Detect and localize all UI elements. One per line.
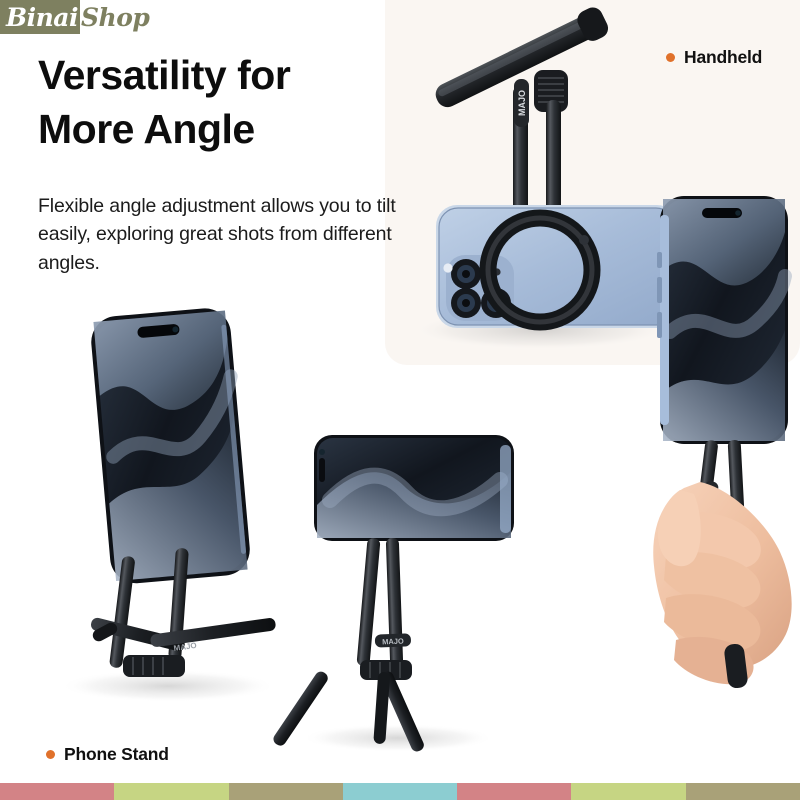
headline-line-2: More Angle [38, 102, 398, 156]
strip-swatch-3 [343, 783, 457, 800]
phone-screen-handheld [657, 196, 788, 444]
strip-swatch-2 [229, 783, 343, 800]
strip-swatch-6 [686, 783, 800, 800]
bullet-dot-icon [666, 53, 675, 62]
svg-text:MAJO: MAJO [173, 641, 197, 653]
headline: Versatility for More Angle [38, 48, 398, 156]
callout-phone-stand-label: Phone Stand [64, 744, 169, 765]
body-copy-text: Flexible angle adjustment allows you to … [38, 192, 406, 277]
product-handheld-in-hand: MAJO [653, 196, 791, 689]
product-phone-stand-portrait: MAJO [60, 306, 276, 702]
strip-swatch-4 [457, 783, 571, 800]
callout-handheld: Handheld [666, 47, 762, 68]
logo-text-secondary: Shop [80, 5, 149, 30]
svg-text:MAJO: MAJO [382, 637, 404, 647]
brand-logo: Binai Shop [0, 0, 149, 34]
body-copy: Flexible angle adjustment allows you to … [38, 192, 406, 277]
phone-screen-portrait [89, 306, 252, 585]
logo-text-primary: Binai [6, 5, 78, 30]
bottom-color-strip [0, 783, 800, 800]
headline-line-1: Versatility for [38, 48, 398, 102]
strip-swatch-0 [0, 783, 114, 800]
bullet-dot-icon [46, 750, 55, 759]
strip-swatch-1 [114, 783, 228, 800]
callout-phone-stand: Phone Stand [46, 744, 169, 765]
callout-handheld-label: Handheld [684, 47, 762, 68]
hand-grip [653, 482, 791, 689]
product-brand-mark: MAJO [517, 90, 527, 116]
product-tripod-landscape: MAJO [271, 435, 514, 753]
product-handheld-magsafe: MAJO [410, 4, 678, 350]
logo-badge: Binai [0, 0, 80, 34]
strip-swatch-5 [571, 783, 685, 800]
phone-screen-landscape [314, 435, 514, 541]
